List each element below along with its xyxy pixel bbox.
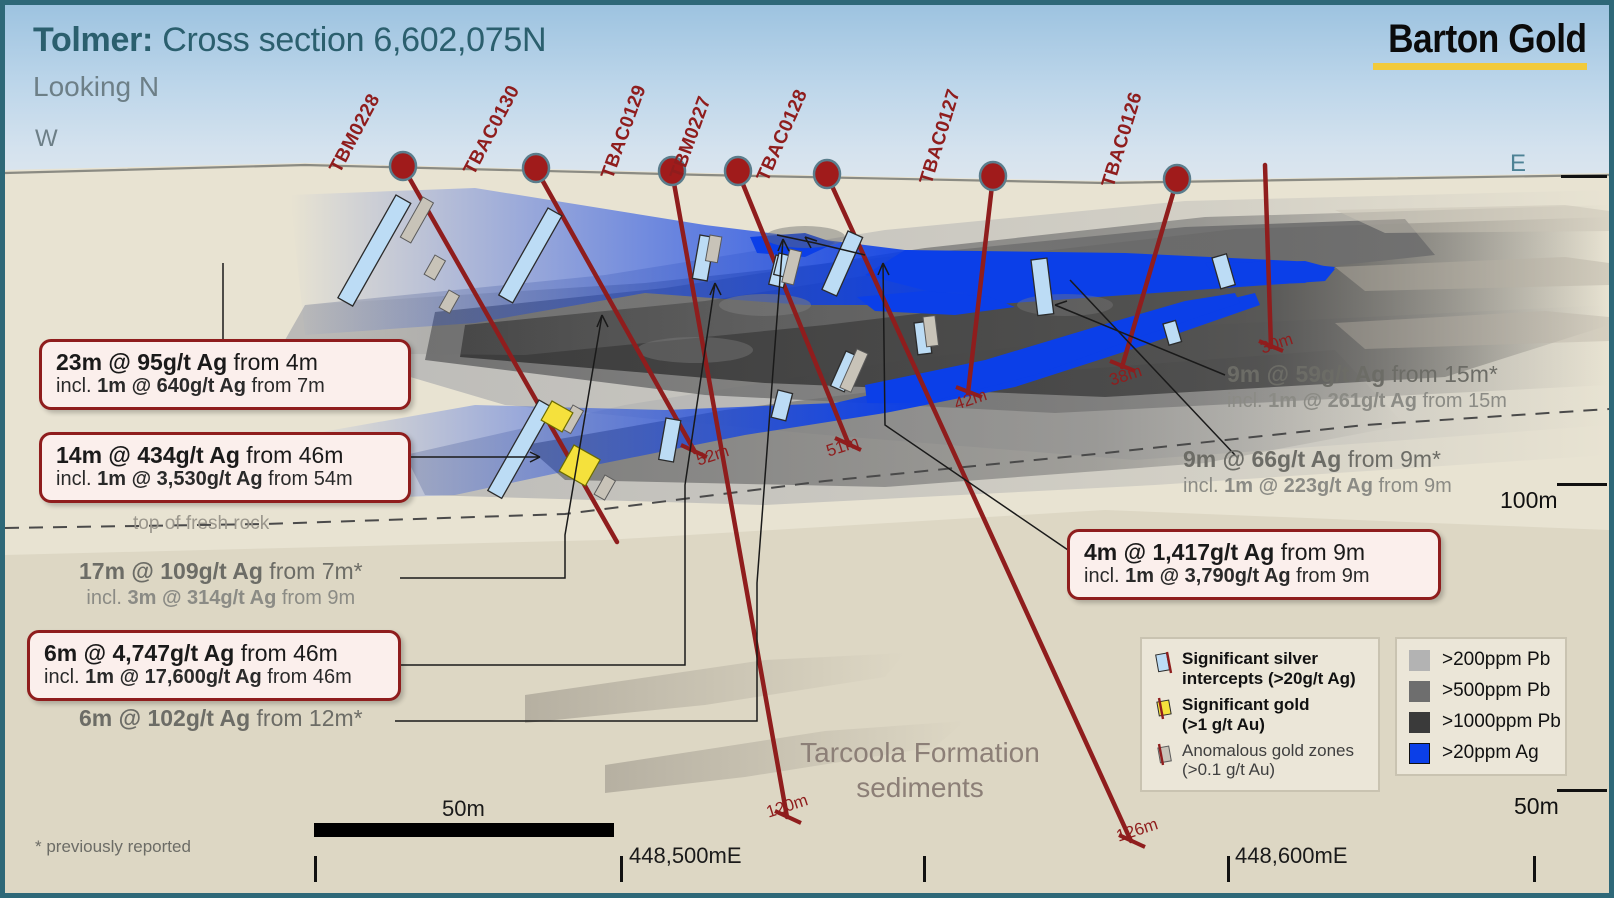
legend-gold-line-1: Significant gold [1182, 695, 1310, 714]
callout-incl-value: 1m @ 3,790g/t Ag [1125, 565, 1290, 587]
callout-23m: 23m @ 95g/t Ag from 4m incl. 1m @ 640g/t… [39, 339, 411, 410]
plain-incl-from: from 9m [276, 587, 355, 609]
plain-incl-from: from 9m [1373, 475, 1452, 497]
coord-label-448500: 448,500mE [629, 843, 742, 869]
plain-line-2: incl. 3m @ 314g/t Ag from 9m [79, 586, 363, 610]
callout-value: 14m @ 434g/t Ag [56, 442, 240, 468]
plain-incl-prefix: incl. [86, 587, 127, 609]
formation-label: Tarcoola Formation sediments [800, 735, 1040, 805]
callout-incl-from: from 7m [246, 375, 325, 397]
legend-row-anomalous: Anomalous gold zones (>0.1 g/t Au) [1154, 741, 1366, 781]
direction-west-label: W [35, 125, 58, 153]
previously-reported-note: * previously reported [35, 837, 191, 857]
title-rest-part: Cross section 6,602,075N [153, 21, 546, 59]
swatch-pb500-icon [1409, 681, 1430, 702]
plain-from: from 9m* [1341, 446, 1441, 472]
callout-incl-prefix: incl. [1084, 565, 1125, 587]
formation-line-1: Tarcoola Formation [800, 737, 1040, 768]
barton-gold-logo: Barton Gold [1361, 19, 1587, 70]
cross-section-figure: Tolmer: Cross section 6,602,075N Looking… [0, 0, 1614, 898]
callout-from: from 46m [240, 442, 344, 468]
legend-pb1000-label: >1000ppm Pb [1442, 711, 1561, 733]
callout-6m: 6m @ 4,747g/t Ag from 46m incl. 1m @ 17,… [27, 630, 401, 701]
plain-9m-66: 9m @ 66g/t Ag from 9m* incl. 1m @ 223g/t… [1183, 446, 1452, 498]
collar-TBAC0130 [523, 154, 549, 182]
plain-from: from 7m* [263, 558, 363, 584]
coord-tick-mid [923, 856, 926, 882]
plain-line-1: 9m @ 66g/t Ag from 9m* [1183, 446, 1452, 474]
gold-intercept-icon [1154, 695, 1176, 726]
legend-silver-line-1: Significant silver [1182, 649, 1318, 668]
scalebar-bar [314, 823, 614, 837]
callout-from: from 9m [1274, 539, 1365, 565]
vscale-rule-100m [1557, 483, 1607, 486]
legend-color-row-200: >200ppm Pb [1409, 649, 1553, 671]
legend-pb500-label: >500ppm Pb [1442, 680, 1550, 702]
legend-anomalous-text: Anomalous gold zones (>0.1 g/t Au) [1182, 741, 1354, 781]
silver-intercept-icon [1154, 649, 1176, 680]
plain-9m-59: 9m @ 59g/t Ag from 15m* incl. 1m @ 261g/… [1227, 361, 1507, 413]
legend-anomalous-line-1: Anomalous gold zones [1182, 741, 1354, 760]
legend-symbols-box: Significant silver intercepts (>20g/t Ag… [1140, 637, 1380, 792]
callout-line-1: 4m @ 1,417g/t Ag from 9m [1084, 539, 1424, 565]
plain-line-1: 17m @ 109g/t Ag from 7m* [79, 558, 363, 586]
plain-value: 9m @ 66g/t Ag [1183, 446, 1341, 472]
fresh-rock-label: top of fresh rock [133, 513, 269, 535]
legend-silver-text: Significant silver intercepts (>20g/t Ag… [1182, 649, 1356, 689]
anomalous-gold-icon [1154, 741, 1176, 772]
plain-17m: 17m @ 109g/t Ag from 7m* incl. 3m @ 314g… [79, 558, 363, 610]
plain-incl-value: 1m @ 223g/t Ag [1224, 475, 1373, 497]
plain-incl-value: 3m @ 314g/t Ag [128, 587, 277, 609]
callout-incl-value: 1m @ 3,530g/t Ag [97, 468, 262, 490]
plain-line-1: 6m @ 102g/t Ag from 12m* [79, 705, 363, 733]
collar-TBAC0126 [1164, 165, 1190, 193]
callout-from: from 46m [234, 640, 338, 666]
callout-value: 6m @ 4,747g/t Ag [44, 640, 234, 666]
direction-east-label: E [1510, 150, 1526, 178]
callout-line-2: incl. 1m @ 3,530g/t Ag from 54m [56, 468, 394, 491]
swatch-pb1000-icon [1409, 712, 1430, 733]
coord-label-448600: 448,600mE [1235, 843, 1348, 869]
coord-tick-mid-left [620, 856, 623, 882]
plain-from: from 12m* [250, 705, 362, 731]
callout-incl-from: from 54m [263, 468, 353, 490]
callout-line-2: incl. 1m @ 3,790g/t Ag from 9m [1084, 565, 1424, 588]
callout-value: 4m @ 1,417g/t Ag [1084, 539, 1274, 565]
legend-ag20-label: >20ppm Ag [1442, 742, 1539, 764]
legend-color-row-500: >500ppm Pb [1409, 680, 1553, 702]
formation-line-2: sediments [856, 772, 984, 803]
coord-tick-mid-right [1227, 856, 1230, 882]
plain-6m-102: 6m @ 102g/t Ag from 12m* [79, 705, 363, 733]
callout-line-1: 6m @ 4,747g/t Ag from 46m [44, 640, 384, 666]
legend-color-row-ag20: >20ppm Ag [1409, 742, 1553, 764]
callout-line-1: 23m @ 95g/t Ag from 4m [56, 349, 394, 375]
collar-TBM0227 [725, 157, 751, 185]
plain-incl-prefix: incl. [1183, 475, 1224, 497]
callout-line-2: incl. 1m @ 640g/t Ag from 7m [56, 375, 394, 398]
plain-incl-from: from 15m [1417, 390, 1507, 412]
plain-incl-value: 1m @ 261g/t Ag [1268, 390, 1417, 412]
coord-tick-right [1533, 856, 1536, 882]
callout-line-1: 14m @ 434g/t Ag from 46m [56, 442, 394, 468]
callout-14m: 14m @ 434g/t Ag from 46m incl. 1m @ 3,53… [39, 432, 411, 503]
page-subtitle: Looking N [33, 71, 159, 103]
plain-value: 9m @ 59g/t Ag [1227, 361, 1385, 387]
page-title: Tolmer: Cross section 6,602,075N [33, 21, 546, 60]
swatch-ag20-icon [1409, 743, 1430, 764]
swatch-pb200-icon [1409, 650, 1430, 671]
callout-from: from 4m [227, 349, 318, 375]
callout-incl-prefix: incl. [56, 375, 97, 397]
plain-line-1: 9m @ 59g/t Ag from 15m* [1227, 361, 1507, 389]
scalebar-label: 50m [442, 796, 485, 822]
callout-incl-prefix: incl. [44, 666, 85, 688]
vscale-rule-50m [1557, 789, 1607, 792]
collar-TBAC0127 [980, 162, 1006, 190]
legend-row-gold: Significant gold (>1 g/t Au) [1154, 695, 1366, 735]
plain-incl-prefix: incl. [1227, 390, 1268, 412]
vscale-label-100m: 100m [1500, 487, 1558, 514]
callout-4m: 4m @ 1,417g/t Ag from 9m incl. 1m @ 3,79… [1067, 529, 1441, 600]
callout-incl-value: 1m @ 640g/t Ag [97, 375, 246, 397]
vscale-rule-top [1561, 175, 1607, 178]
inclusion-2 [637, 337, 753, 363]
plain-value: 6m @ 102g/t Ag [79, 705, 250, 731]
plain-value: 17m @ 109g/t Ag [79, 558, 263, 584]
legend-row-silver: Significant silver intercepts (>20g/t Ag… [1154, 649, 1366, 689]
logo-wordmark: Barton Gold [1388, 19, 1587, 59]
legend-color-row-1000: >1000ppm Pb [1409, 711, 1553, 733]
legend-silver-line-2: intercepts (>20g/t Ag) [1182, 669, 1356, 688]
vscale-label-50m: 50m [1514, 793, 1559, 820]
sediment-smear-3 [1335, 205, 1609, 233]
callout-line-2: incl. 1m @ 17,600g/t Ag from 46m [44, 666, 384, 689]
callout-incl-value: 1m @ 17,600g/t Ag [85, 666, 262, 688]
inclusion-4 [1017, 294, 1113, 316]
legend-colors-box: >200ppm Pb >500ppm Pb >1000ppm Pb >20ppm… [1395, 637, 1567, 776]
title-bold-part: Tolmer: [33, 21, 153, 59]
legend-pb200-label: >200ppm Pb [1442, 649, 1550, 671]
plain-line-2: incl. 1m @ 223g/t Ag from 9m [1183, 474, 1452, 498]
coord-tick-left [314, 856, 317, 882]
plain-from: from 15m* [1385, 361, 1497, 387]
legend-gold-text: Significant gold (>1 g/t Au) [1182, 695, 1310, 735]
collar-TBAC0128 [814, 160, 840, 188]
collar-TBM0228 [390, 152, 416, 180]
callout-incl-prefix: incl. [56, 468, 97, 490]
callout-incl-from: from 9m [1291, 565, 1370, 587]
callout-value: 23m @ 95g/t Ag [56, 349, 227, 375]
callout-incl-from: from 46m [262, 666, 352, 688]
logo-underline-rule [1373, 63, 1587, 70]
plain-line-2: incl. 1m @ 261g/t Ag from 15m [1227, 389, 1507, 413]
legend-anomalous-line-2: (>0.1 g/t Au) [1182, 760, 1275, 779]
legend-gold-line-2: (>1 g/t Au) [1182, 715, 1265, 734]
